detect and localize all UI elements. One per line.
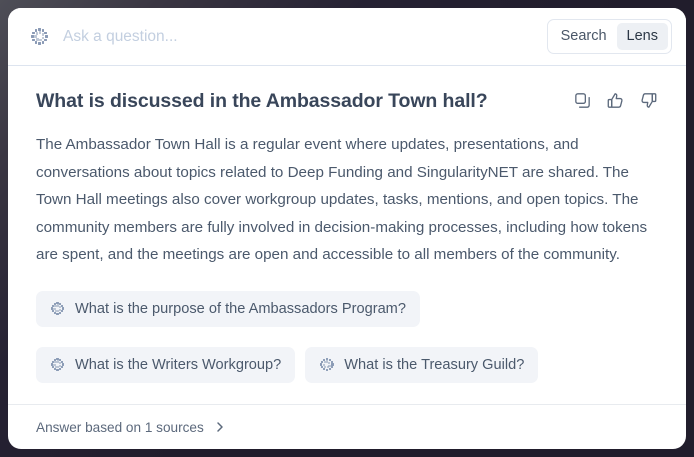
mode-button-search[interactable]: Search [551, 23, 617, 50]
search-input[interactable] [63, 28, 547, 46]
thumbs-up-icon[interactable] [606, 91, 625, 110]
answer-header: What is discussed in the Ambassador Town… [36, 88, 658, 114]
suggestion-chip-label: What is the Treasury Guild? [344, 355, 524, 375]
search-bar: Search Lens [8, 8, 686, 66]
sources-label: Answer based on 1 sources [36, 420, 204, 435]
answer-body: What is discussed in the Ambassador Town… [8, 66, 686, 404]
chevron-right-icon [214, 421, 226, 433]
answer-card: Search Lens What is discussed in the Amb… [8, 8, 686, 449]
mode-button-lens[interactable]: Lens [617, 23, 668, 50]
suggestion-chip-1[interactable]: What is the purpose of the Ambassadors P… [36, 291, 420, 327]
answer-title: What is discussed in the Ambassador Town… [36, 88, 488, 114]
dot-ring-icon [50, 301, 65, 316]
dot-ring-icon [50, 357, 65, 372]
answer-actions [573, 88, 658, 110]
dot-ring-icon [319, 357, 334, 372]
suggestion-chip-label: What is the Writers Workgroup? [75, 355, 281, 375]
search-mode-toggle: Search Lens [547, 19, 672, 54]
copy-icon[interactable] [573, 91, 592, 110]
suggestion-chips: What is the purpose of the Ambassadors P… [36, 291, 658, 383]
sources-link[interactable]: Answer based on 1 sources [36, 420, 226, 435]
dot-ring-icon [30, 27, 49, 46]
suggestion-chip-2[interactable]: What is the Writers Workgroup? [36, 347, 295, 383]
thumbs-down-icon[interactable] [639, 91, 658, 110]
suggestion-chip-label: What is the purpose of the Ambassadors P… [75, 299, 406, 319]
answer-footer: Answer based on 1 sources [8, 404, 686, 449]
answer-text: The Ambassador Town Hall is a regular ev… [36, 131, 658, 269]
suggestion-chip-3[interactable]: What is the Treasury Guild? [305, 347, 538, 383]
